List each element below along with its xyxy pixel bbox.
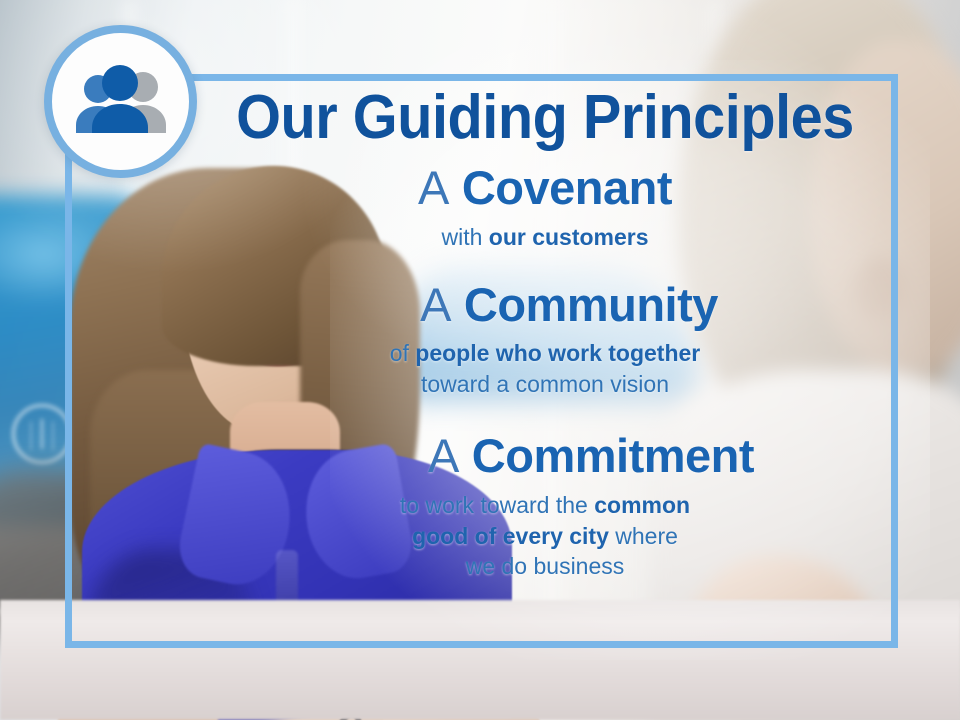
principle-subtext: with our customers: [200, 222, 890, 252]
principle-heading: A Community: [420, 280, 718, 329]
principle-1: A Covenantwith our customers: [200, 163, 890, 252]
principle-keyword: Community: [464, 278, 718, 331]
people-group-icon: [69, 65, 173, 139]
principle-subtext-line: toward a common vision: [200, 369, 890, 399]
subtext-plain: where: [609, 523, 678, 549]
principle-subtext: to work toward the commongood of every c…: [200, 490, 890, 581]
principle-heading: A Commitment: [428, 431, 754, 480]
principle-subtext-line: of people who work together: [200, 338, 890, 368]
principle-3: A Commitmentto work toward the commongoo…: [200, 431, 890, 581]
principle-subtext: of people who work togethertoward a comm…: [200, 338, 890, 399]
principle-subtext-line: we do business: [200, 551, 890, 581]
subtext-plain: of: [390, 340, 416, 366]
principle-article: A: [418, 161, 462, 214]
principle-keyword: Covenant: [462, 161, 672, 214]
principle-subtext-line: to work toward the common: [200, 490, 890, 520]
subtext-plain: toward a common vision: [421, 371, 669, 397]
principle-2: A Communityof people who work togetherto…: [200, 280, 890, 399]
subtext-plain: to work toward the: [400, 492, 594, 518]
principle-article: A: [428, 429, 472, 482]
subtext-emphasis: our customers: [489, 224, 649, 250]
principle-subtext-line: good of every city where: [200, 521, 890, 551]
page-title: Our Guiding Principles: [224, 86, 866, 149]
subtext-emphasis: people who work together: [415, 340, 700, 366]
subtext-emphasis: good of every city: [412, 523, 609, 549]
subtext-emphasis: common: [594, 492, 690, 518]
subtext-plain: with: [441, 224, 488, 250]
principle-subtext-line: with our customers: [200, 222, 890, 252]
vehicle-emblem-icon: [12, 404, 72, 464]
copy-block: Our Guiding Principles A Covenantwith ou…: [200, 86, 890, 581]
people-group-badge: [44, 25, 197, 178]
guiding-principles-graphic: FLOW FLOW AUTOMOTIVE: [0, 0, 960, 720]
principle-heading: A Covenant: [200, 163, 890, 212]
principles-list: A Covenantwith our customersA Communityo…: [200, 163, 890, 581]
principle-article: A: [420, 278, 464, 331]
subtext-plain: we do business: [466, 553, 625, 579]
desk-surface: [0, 600, 960, 720]
principle-keyword: Commitment: [472, 429, 754, 482]
